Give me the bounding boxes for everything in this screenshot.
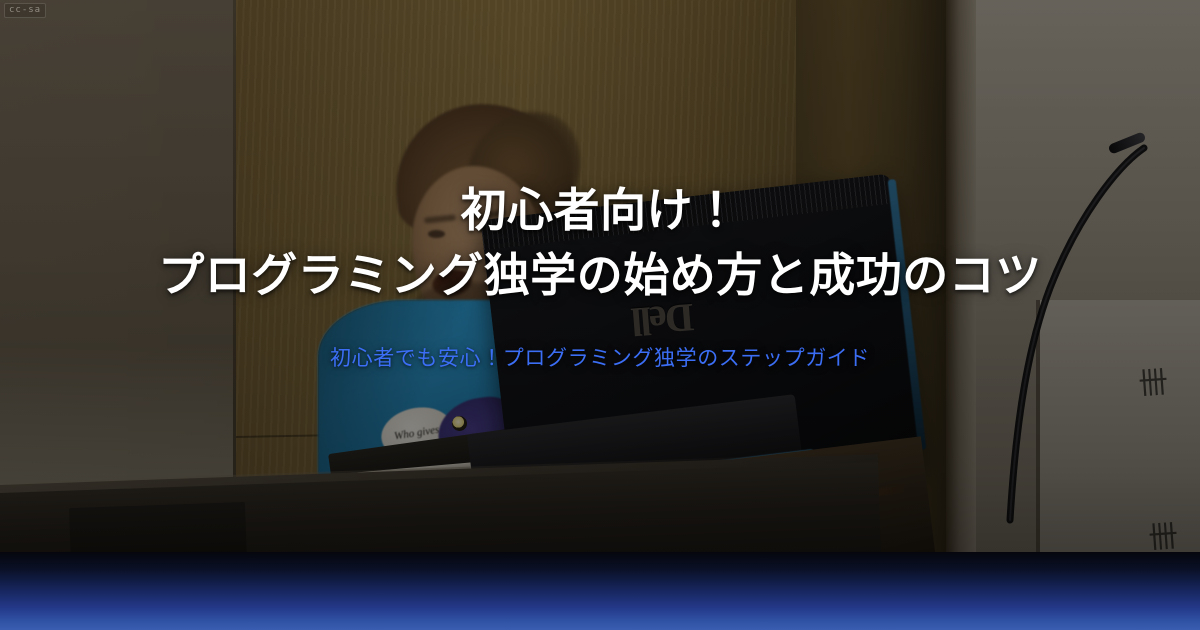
hero-content: 初心者向け！プログラミング独学の始め方と成功のコツ 初心者でも安心！プログラミン… (0, 0, 1200, 552)
footer-accent-bar (0, 552, 1200, 630)
page-title: 初心者向け！プログラミング独学の始め方と成功のコツ (48, 178, 1152, 309)
page-subtitle: 初心者でも安心！プログラミング独学のステップガイド (330, 343, 870, 375)
ogp-hero-card: 卌 卌 Who gives Dell (0, 0, 1200, 630)
